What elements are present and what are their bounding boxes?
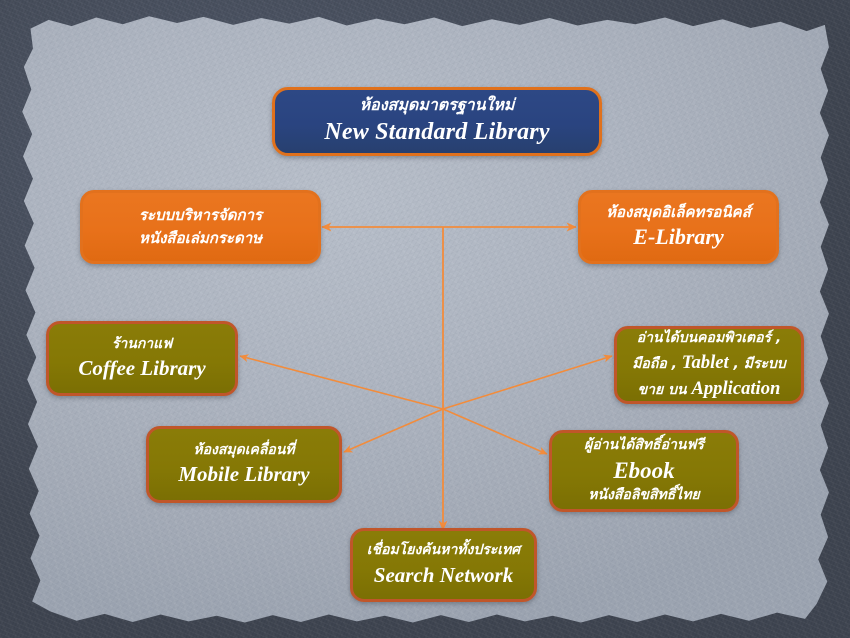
- node-elibrary-english: E-Library: [633, 223, 723, 251]
- node-devices-line3: ขาย บน Application: [638, 377, 781, 401]
- node-search-thai: เชื่อมโยงค้นหาทั้งประเทศ: [367, 542, 520, 560]
- node-coffee-thai: ร้านกาแฟ: [112, 336, 172, 354]
- node-title-thai: ห้องสมุดมาตรฐานใหม่: [360, 95, 515, 115]
- node-devices-application[interactable]: อ่านได้บนคอมพิวเตอร์ , มือถือ , Tablet ,…: [614, 326, 804, 404]
- node-paper-admin-line1: ระบบบริหารจัดการ: [139, 206, 262, 225]
- node-paper-admin-line2: หนังสือเล่มกระดาษ: [139, 229, 262, 248]
- node-coffee-library[interactable]: ร้านกาแฟ Coffee Library: [46, 321, 238, 396]
- node-devices-line1: อ่านได้บนคอมพิวเตอร์ ,: [637, 329, 782, 348]
- node-paper-book-admin[interactable]: ระบบบริหารจัดการ หนังสือเล่มกระดาษ: [80, 190, 321, 264]
- node-new-standard-library[interactable]: ห้องสมุดมาตรฐานใหม่ New Standard Library: [272, 87, 602, 156]
- node-ebook-english: Ebook: [613, 456, 674, 485]
- node-ebook-thai-top: ผู้อ่านได้สิทธิ์อ่านฟรี: [584, 437, 704, 455]
- node-devices-line2: มือถือ , Tablet , มีระบบ: [632, 351, 786, 375]
- node-elibrary-thai: ห้องสมุดอิเล็คทรอนิคส์: [606, 203, 751, 222]
- node-ebook[interactable]: ผู้อ่านได้สิทธิ์อ่านฟรี Ebook หนังสือลิข…: [549, 430, 739, 512]
- node-search-network[interactable]: เชื่อมโยงค้นหาทั้งประเทศ Search Network: [350, 528, 537, 602]
- node-e-library[interactable]: ห้องสมุดอิเล็คทรอนิคส์ E-Library: [578, 190, 779, 264]
- node-title-english: New Standard Library: [324, 117, 549, 148]
- node-ebook-thai-bottom: หนังสือลิขสิทธิ์ไทย: [588, 487, 700, 505]
- slide-canvas: ห้องสมุดมาตรฐานใหม่ New Standard Library…: [0, 0, 850, 638]
- node-mobile-library[interactable]: ห้องสมุดเคลื่อนที่ Mobile Library: [146, 426, 342, 503]
- node-search-english: Search Network: [374, 562, 513, 589]
- node-mobile-english: Mobile Library: [178, 461, 309, 488]
- node-coffee-english: Coffee Library: [78, 355, 205, 382]
- node-mobile-thai: ห้องสมุดเคลื่อนที่: [193, 442, 294, 460]
